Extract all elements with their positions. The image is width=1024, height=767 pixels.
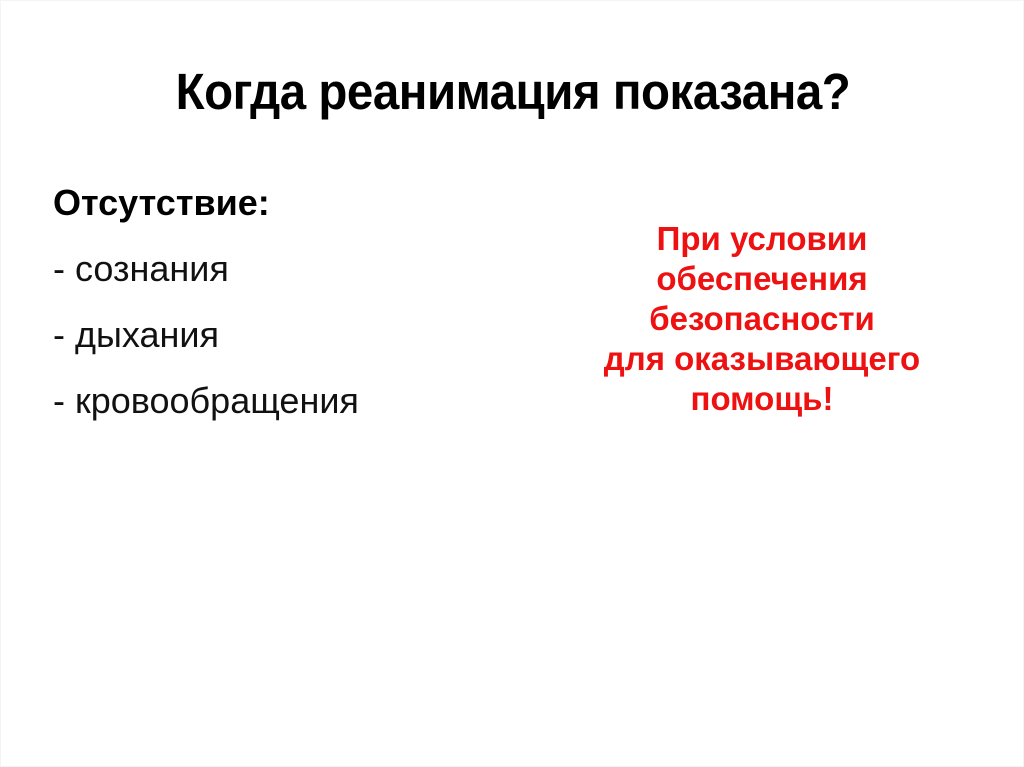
warning-line: При условии	[557, 219, 967, 259]
slide-body: Отсутствие: - сознания - дыхания - крово…	[1, 181, 1024, 481]
safety-warning-block: При условии обеспечения безопасности для…	[557, 219, 967, 419]
page-title: Когда реанимация показана?	[37, 63, 989, 121]
safety-warning-text: При условии обеспечения безопасности для…	[557, 219, 967, 419]
warning-line: для оказывающего	[557, 339, 967, 379]
absence-block: Отсутствие: - сознания - дыхания - крово…	[53, 181, 523, 423]
list-item: - дыхания	[53, 313, 523, 357]
warning-line: помощь!	[557, 379, 967, 419]
list-item: - кровообращения	[53, 379, 523, 423]
absence-list: - сознания - дыхания - кровообращения	[53, 247, 523, 423]
list-item: - сознания	[53, 247, 523, 291]
warning-line: обеспечения	[557, 259, 967, 299]
absence-heading: Отсутствие:	[53, 181, 523, 225]
slide-canvas: Когда реанимация показана? Отсутствие: -…	[0, 0, 1024, 767]
warning-line: безопасности	[557, 299, 967, 339]
